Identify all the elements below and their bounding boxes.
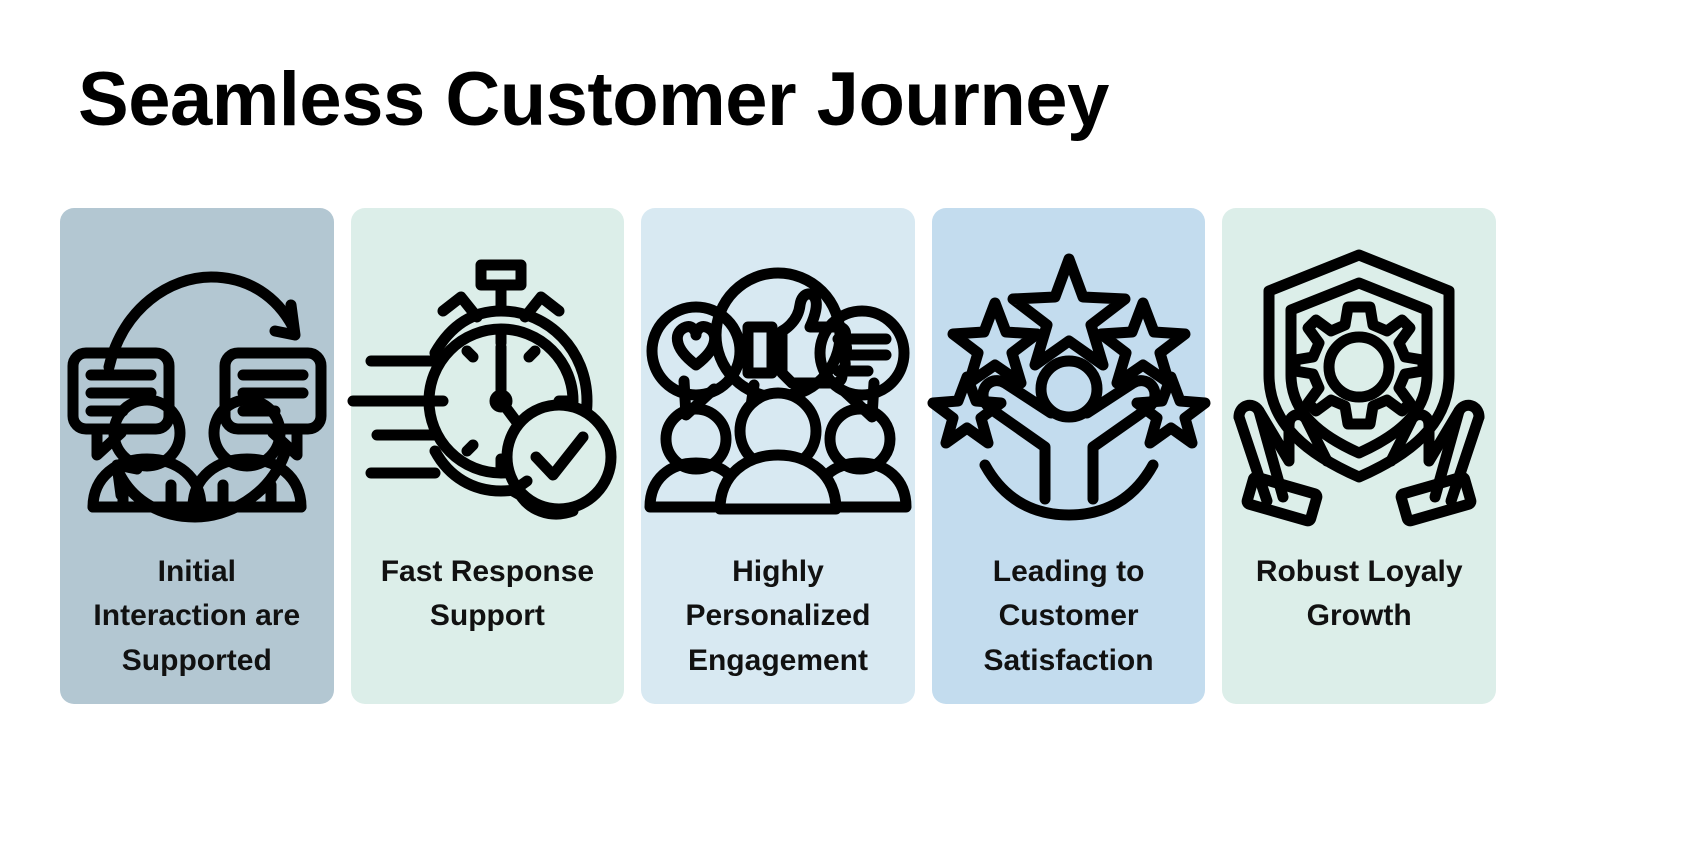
card-personalized-engagement[interactable]: Highly Personalized Engagement: [641, 208, 915, 704]
page-title: Seamless Customer Journey: [78, 62, 1109, 138]
card-label: Highly Personalized Engagement: [641, 550, 915, 683]
card-label: Initial Interaction are Supported: [60, 550, 334, 683]
card-loyalty-growth[interactable]: Robust Loyaly Growth: [1222, 208, 1496, 704]
stopwatch-check-icon: [351, 230, 623, 530]
person-stars-icon: [933, 230, 1205, 530]
card-initial-interaction[interactable]: Initial Interaction are Supported: [60, 208, 334, 704]
people-feedback-bubbles-icon: [642, 230, 914, 530]
card-label: Fast Response Support: [351, 550, 625, 639]
card-label: Leading to Customer Satisfaction: [932, 550, 1206, 683]
hands-shield-gear-icon: [1223, 230, 1495, 530]
two-people-chat-cycle-icon: [61, 230, 333, 530]
infographic-root: Seamless Customer Journey: [0, 0, 1696, 848]
card-customer-satisfaction[interactable]: Leading to Customer Satisfaction: [932, 208, 1206, 704]
card-row: Initial Interaction are Supported: [60, 208, 1496, 704]
card-label: Robust Loyaly Growth: [1222, 550, 1496, 639]
card-fast-response[interactable]: Fast Response Support: [351, 208, 625, 704]
